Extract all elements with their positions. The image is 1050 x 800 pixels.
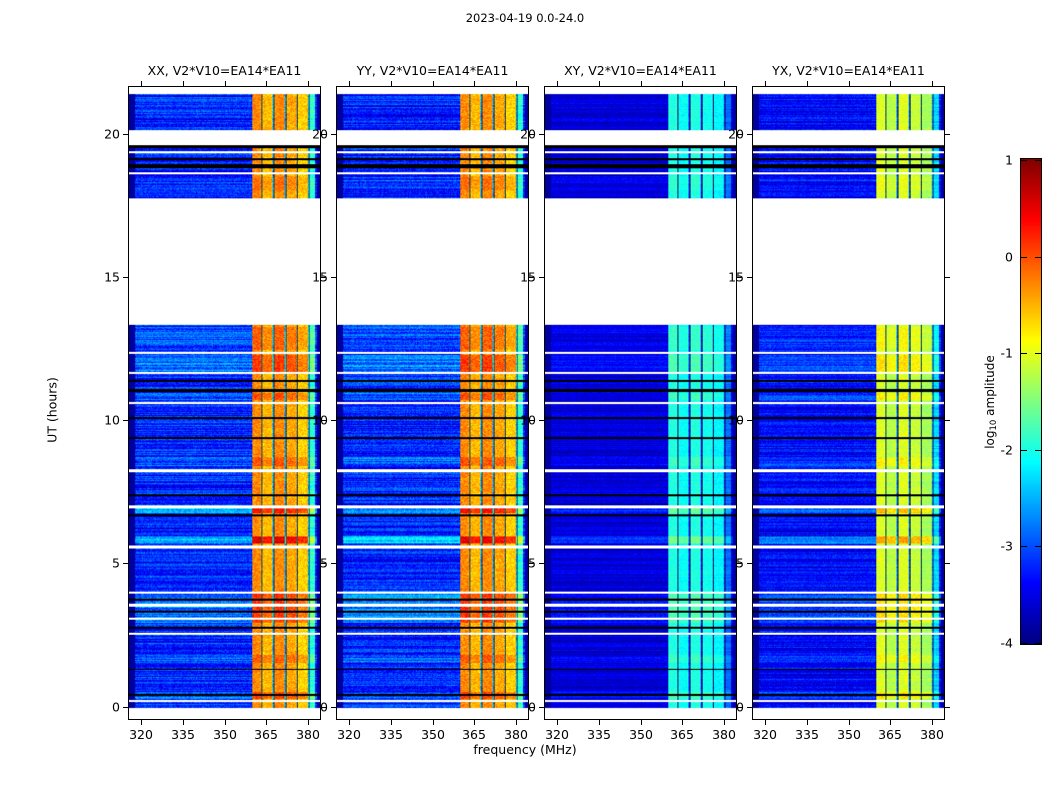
x-tick <box>849 81 850 87</box>
y-tick-label: 20 <box>520 127 536 142</box>
y-tick-label: 0 <box>112 700 120 715</box>
x-tick-label: 365 <box>670 727 694 742</box>
x-tick <box>516 719 517 725</box>
x-tick <box>599 719 600 725</box>
x-tick-label: 350 <box>421 727 445 742</box>
x-tick <box>183 81 184 87</box>
colorbar-tick <box>1035 160 1042 161</box>
panel-yx[interactable]: YX, V2*V10=EA14*EA11 0510152032033535036… <box>752 86 945 720</box>
x-tick <box>849 719 850 725</box>
x-tick-label: 335 <box>795 727 819 742</box>
y-tick <box>539 707 545 708</box>
x-tick-label: 365 <box>254 727 278 742</box>
x-tick <box>474 719 475 725</box>
colorbar-tick <box>1020 546 1027 547</box>
panel-yy[interactable]: YY, V2*V10=EA14*EA11 0510152032033535036… <box>336 86 529 720</box>
heatmap-xy <box>545 87 736 719</box>
y-tick <box>944 420 950 421</box>
colorbar-label: log10 amplitude <box>983 355 999 449</box>
x-tick <box>724 81 725 87</box>
y-tick <box>747 707 753 708</box>
y-tick-label: 5 <box>528 556 536 571</box>
colorbar-tick-label: -3 <box>1001 539 1013 554</box>
x-tick <box>391 719 392 725</box>
x-tick-label: 320 <box>545 727 569 742</box>
y-tick-label: 15 <box>312 270 328 285</box>
colorbar-tick-label: -1 <box>1001 346 1013 361</box>
x-tick-label: 320 <box>753 727 777 742</box>
heatmap-yy <box>337 87 528 719</box>
y-tick <box>539 277 545 278</box>
y-tick-label: 0 <box>528 700 536 715</box>
y-tick <box>747 277 753 278</box>
y-tick-label: 20 <box>728 127 744 142</box>
x-tick <box>765 81 766 87</box>
x-tick <box>807 81 808 87</box>
colorbar-tick <box>1020 353 1027 354</box>
x-tick <box>349 719 350 725</box>
x-tick <box>308 81 309 87</box>
heatmap-yx <box>753 87 944 719</box>
y-tick-label: 0 <box>736 700 744 715</box>
x-tick-label: 380 <box>504 727 528 742</box>
colorbar-tick-label: 0 <box>1005 249 1013 264</box>
colorbar-gradient <box>1021 159 1041 644</box>
y-tick <box>944 707 950 708</box>
x-tick <box>349 81 350 87</box>
x-tick <box>890 81 891 87</box>
y-tick-label: 15 <box>104 270 120 285</box>
y-tick-label: 5 <box>736 556 744 571</box>
y-tick-label: 20 <box>312 127 328 142</box>
x-tick-label: 380 <box>296 727 320 742</box>
y-tick <box>747 563 753 564</box>
x-tick <box>807 719 808 725</box>
x-tick <box>391 81 392 87</box>
colorbar-label-suffix: amplitude <box>983 355 997 419</box>
y-tick <box>123 707 129 708</box>
x-tick <box>724 719 725 725</box>
panel-title-yy: YY, V2*V10=EA14*EA11 <box>337 63 528 78</box>
x-tick <box>141 719 142 725</box>
colorbar-tick <box>1035 643 1042 644</box>
x-tick <box>141 81 142 87</box>
colorbar-tick-label: -4 <box>1001 636 1013 651</box>
y-tick <box>747 134 753 135</box>
y-tick <box>539 563 545 564</box>
colorbar-tick <box>1035 257 1042 258</box>
y-tick <box>331 707 337 708</box>
x-tick <box>765 719 766 725</box>
y-tick-label: 10 <box>104 413 120 428</box>
y-tick <box>331 277 337 278</box>
y-tick-label: 5 <box>112 556 120 571</box>
y-tick <box>331 420 337 421</box>
colorbar-tick <box>1020 450 1027 451</box>
y-tick-label: 0 <box>320 700 328 715</box>
x-tick-label: 350 <box>213 727 237 742</box>
x-tick-label: 320 <box>129 727 153 742</box>
x-tick <box>225 719 226 725</box>
figure-root: 2023-04-19 0.0-24.0 UT (hours) frequency… <box>0 0 1050 800</box>
y-tick <box>123 277 129 278</box>
colorbar-tick-label: -2 <box>1001 442 1013 457</box>
y-tick-label: 10 <box>312 413 328 428</box>
colorbar-label-prefix: log <box>983 430 997 448</box>
x-tick <box>266 81 267 87</box>
colorbar-tick <box>1035 546 1042 547</box>
y-tick <box>944 277 950 278</box>
x-tick <box>474 81 475 87</box>
heatmap-xx <box>129 87 320 719</box>
y-tick-label: 15 <box>520 270 536 285</box>
x-tick <box>890 719 891 725</box>
x-tick-label: 350 <box>837 727 861 742</box>
x-tick <box>599 81 600 87</box>
colorbar-tick-label: 1 <box>1005 153 1013 168</box>
colorbar-label-sub: 10 <box>989 420 999 431</box>
x-tick <box>225 81 226 87</box>
x-tick <box>557 81 558 87</box>
x-tick <box>682 81 683 87</box>
y-tick <box>123 420 129 421</box>
panel-xx[interactable]: XX, V2*V10=EA14*EA11 0510152032033535036… <box>128 86 321 720</box>
y-tick <box>944 134 950 135</box>
y-tick-label: 10 <box>728 413 744 428</box>
panel-xy[interactable]: XY, V2*V10=EA14*EA11 0510152032033535036… <box>544 86 737 720</box>
x-tick <box>641 81 642 87</box>
y-tick <box>944 563 950 564</box>
y-tick <box>747 420 753 421</box>
x-axis-label: frequency (MHz) <box>0 742 1050 757</box>
x-tick <box>682 719 683 725</box>
x-tick-label: 335 <box>379 727 403 742</box>
x-tick <box>932 81 933 87</box>
colorbar-tick <box>1020 643 1027 644</box>
x-tick <box>433 719 434 725</box>
x-tick <box>557 719 558 725</box>
x-tick-label: 335 <box>171 727 195 742</box>
y-tick <box>539 134 545 135</box>
y-tick <box>331 563 337 564</box>
colorbar-tick <box>1020 160 1027 161</box>
colorbar-tick <box>1035 450 1042 451</box>
y-tick-label: 5 <box>320 556 328 571</box>
panel-title-xx: XX, V2*V10=EA14*EA11 <box>129 63 320 78</box>
x-tick-label: 365 <box>878 727 902 742</box>
y-tick <box>123 134 129 135</box>
x-tick-label: 380 <box>920 727 944 742</box>
colorbar-tick <box>1020 257 1027 258</box>
panel-title-yx: YX, V2*V10=EA14*EA11 <box>753 63 944 78</box>
x-tick <box>641 719 642 725</box>
x-tick <box>266 719 267 725</box>
x-tick-label: 365 <box>462 727 486 742</box>
y-tick <box>539 420 545 421</box>
x-tick <box>932 719 933 725</box>
x-tick-label: 380 <box>712 727 736 742</box>
y-tick <box>331 134 337 135</box>
y-tick <box>123 563 129 564</box>
panel-title-xy: XY, V2*V10=EA14*EA11 <box>545 63 736 78</box>
x-tick-label: 320 <box>337 727 361 742</box>
x-tick <box>308 719 309 725</box>
colorbar[interactable]: 10-1-2-3-4 <box>1020 158 1042 645</box>
y-axis-label: UT (hours) <box>45 377 60 443</box>
y-tick-label: 20 <box>104 127 120 142</box>
x-tick-label: 350 <box>629 727 653 742</box>
x-tick <box>516 81 517 87</box>
figure-title: 2023-04-19 0.0-24.0 <box>0 11 1050 25</box>
x-tick <box>183 719 184 725</box>
x-tick-label: 335 <box>587 727 611 742</box>
x-tick <box>433 81 434 87</box>
y-tick-label: 10 <box>520 413 536 428</box>
colorbar-tick <box>1035 353 1042 354</box>
y-tick-label: 15 <box>728 270 744 285</box>
